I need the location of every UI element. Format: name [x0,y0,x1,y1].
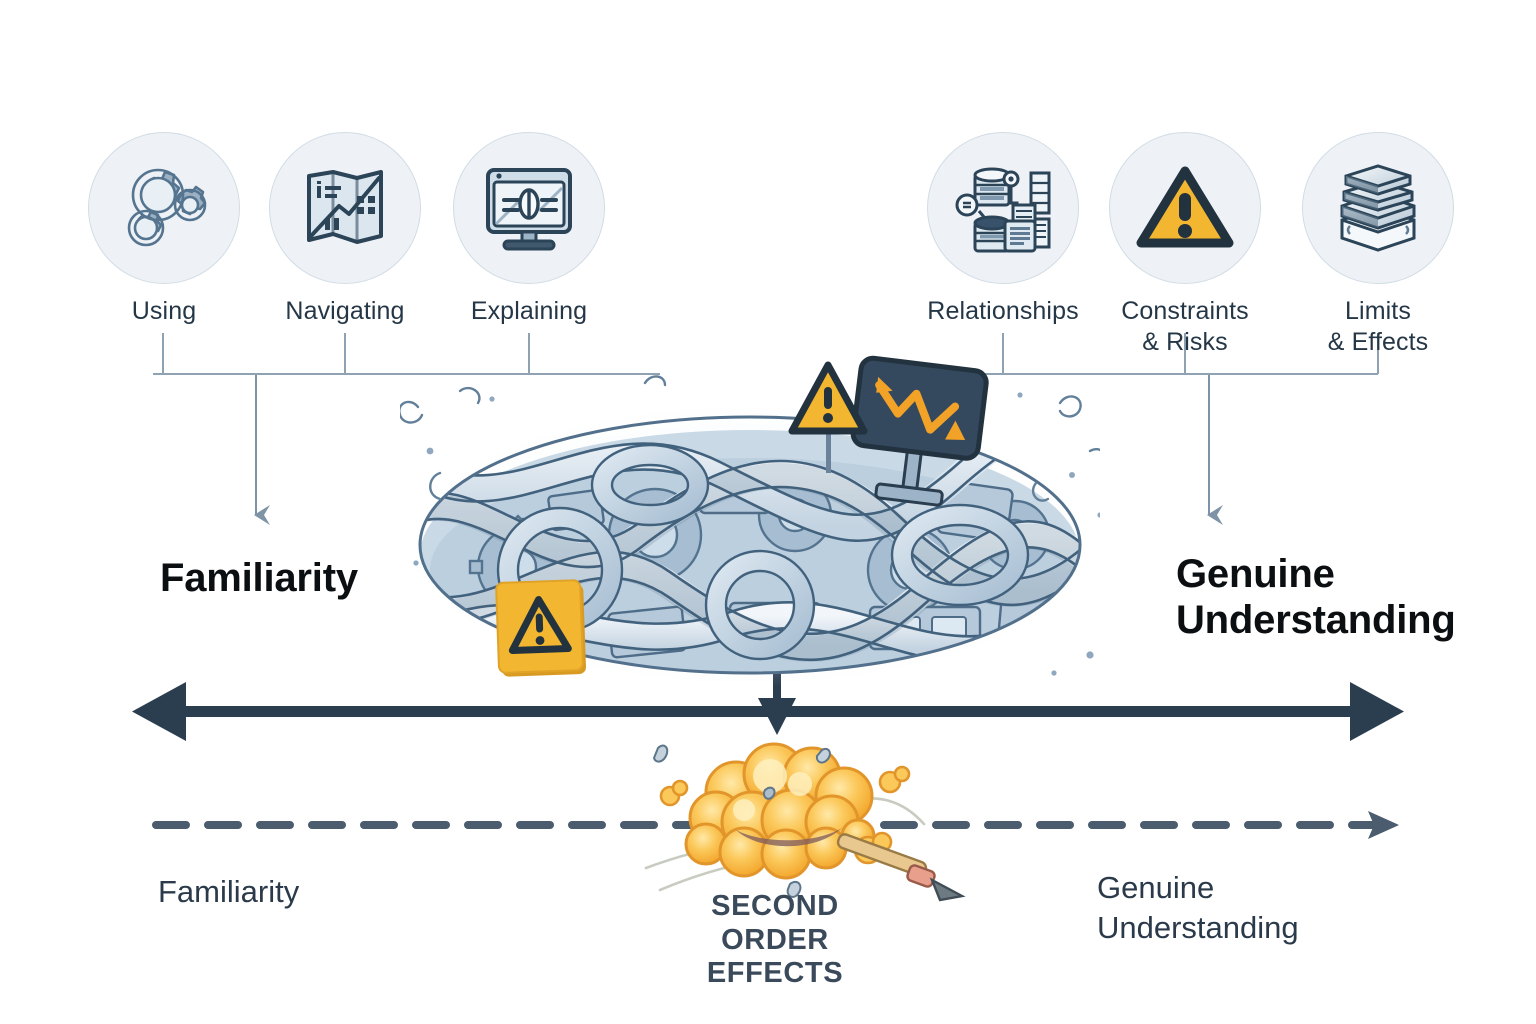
node-limits-effects[interactable]: Limits & Effects [1302,132,1454,357]
using-icon-circle[interactable] [88,132,240,284]
node-label: Explaining [453,296,605,327]
warning-placard-icon [496,580,586,677]
layers-stack-icon [1330,162,1426,254]
node-label: Relationships [927,296,1079,327]
bottom-axis-left-label: Familiarity [158,872,299,912]
limits-effects-icon-circle[interactable] [1302,132,1454,284]
monitor-presentation-icon [480,162,578,254]
node-label: Limits & Effects [1302,296,1454,357]
bottom-axis-right-label: Genuine Understanding [1097,868,1299,947]
relationships-icon-circle[interactable] [927,132,1079,284]
node-relationships[interactable]: Relationships [927,132,1079,327]
spectrum-right-endpoint-label: Genuine Understanding [1176,552,1456,643]
diagram-canvas: Using Navigating [0,0,1536,1024]
explaining-icon-circle[interactable] [453,132,605,284]
node-navigating[interactable]: Navigating [269,132,421,327]
database-network-icon [953,161,1053,255]
node-label: Navigating [269,296,421,327]
constraints-risks-icon-circle[interactable] [1109,132,1261,284]
navigating-icon-circle[interactable] [269,132,421,284]
second-order-effects-caption: SECOND ORDER EFFECTS [700,890,850,991]
spectrum-left-endpoint-label: Familiarity [160,556,358,602]
node-using[interactable]: Using [88,132,240,327]
node-label: Constraints & Risks [1109,296,1261,357]
node-constraints-risks[interactable]: Constraints & Risks [1109,132,1261,357]
tangled-cables-illustration [400,355,1100,685]
node-explaining[interactable]: Explaining [453,132,605,327]
gears-icon [116,160,212,256]
node-label: Using [88,296,240,327]
map-icon [299,162,391,254]
explosion-with-fuse-icon [640,740,1000,910]
firecracker-stick [836,833,962,900]
warning-triangle-icon [1135,163,1235,253]
